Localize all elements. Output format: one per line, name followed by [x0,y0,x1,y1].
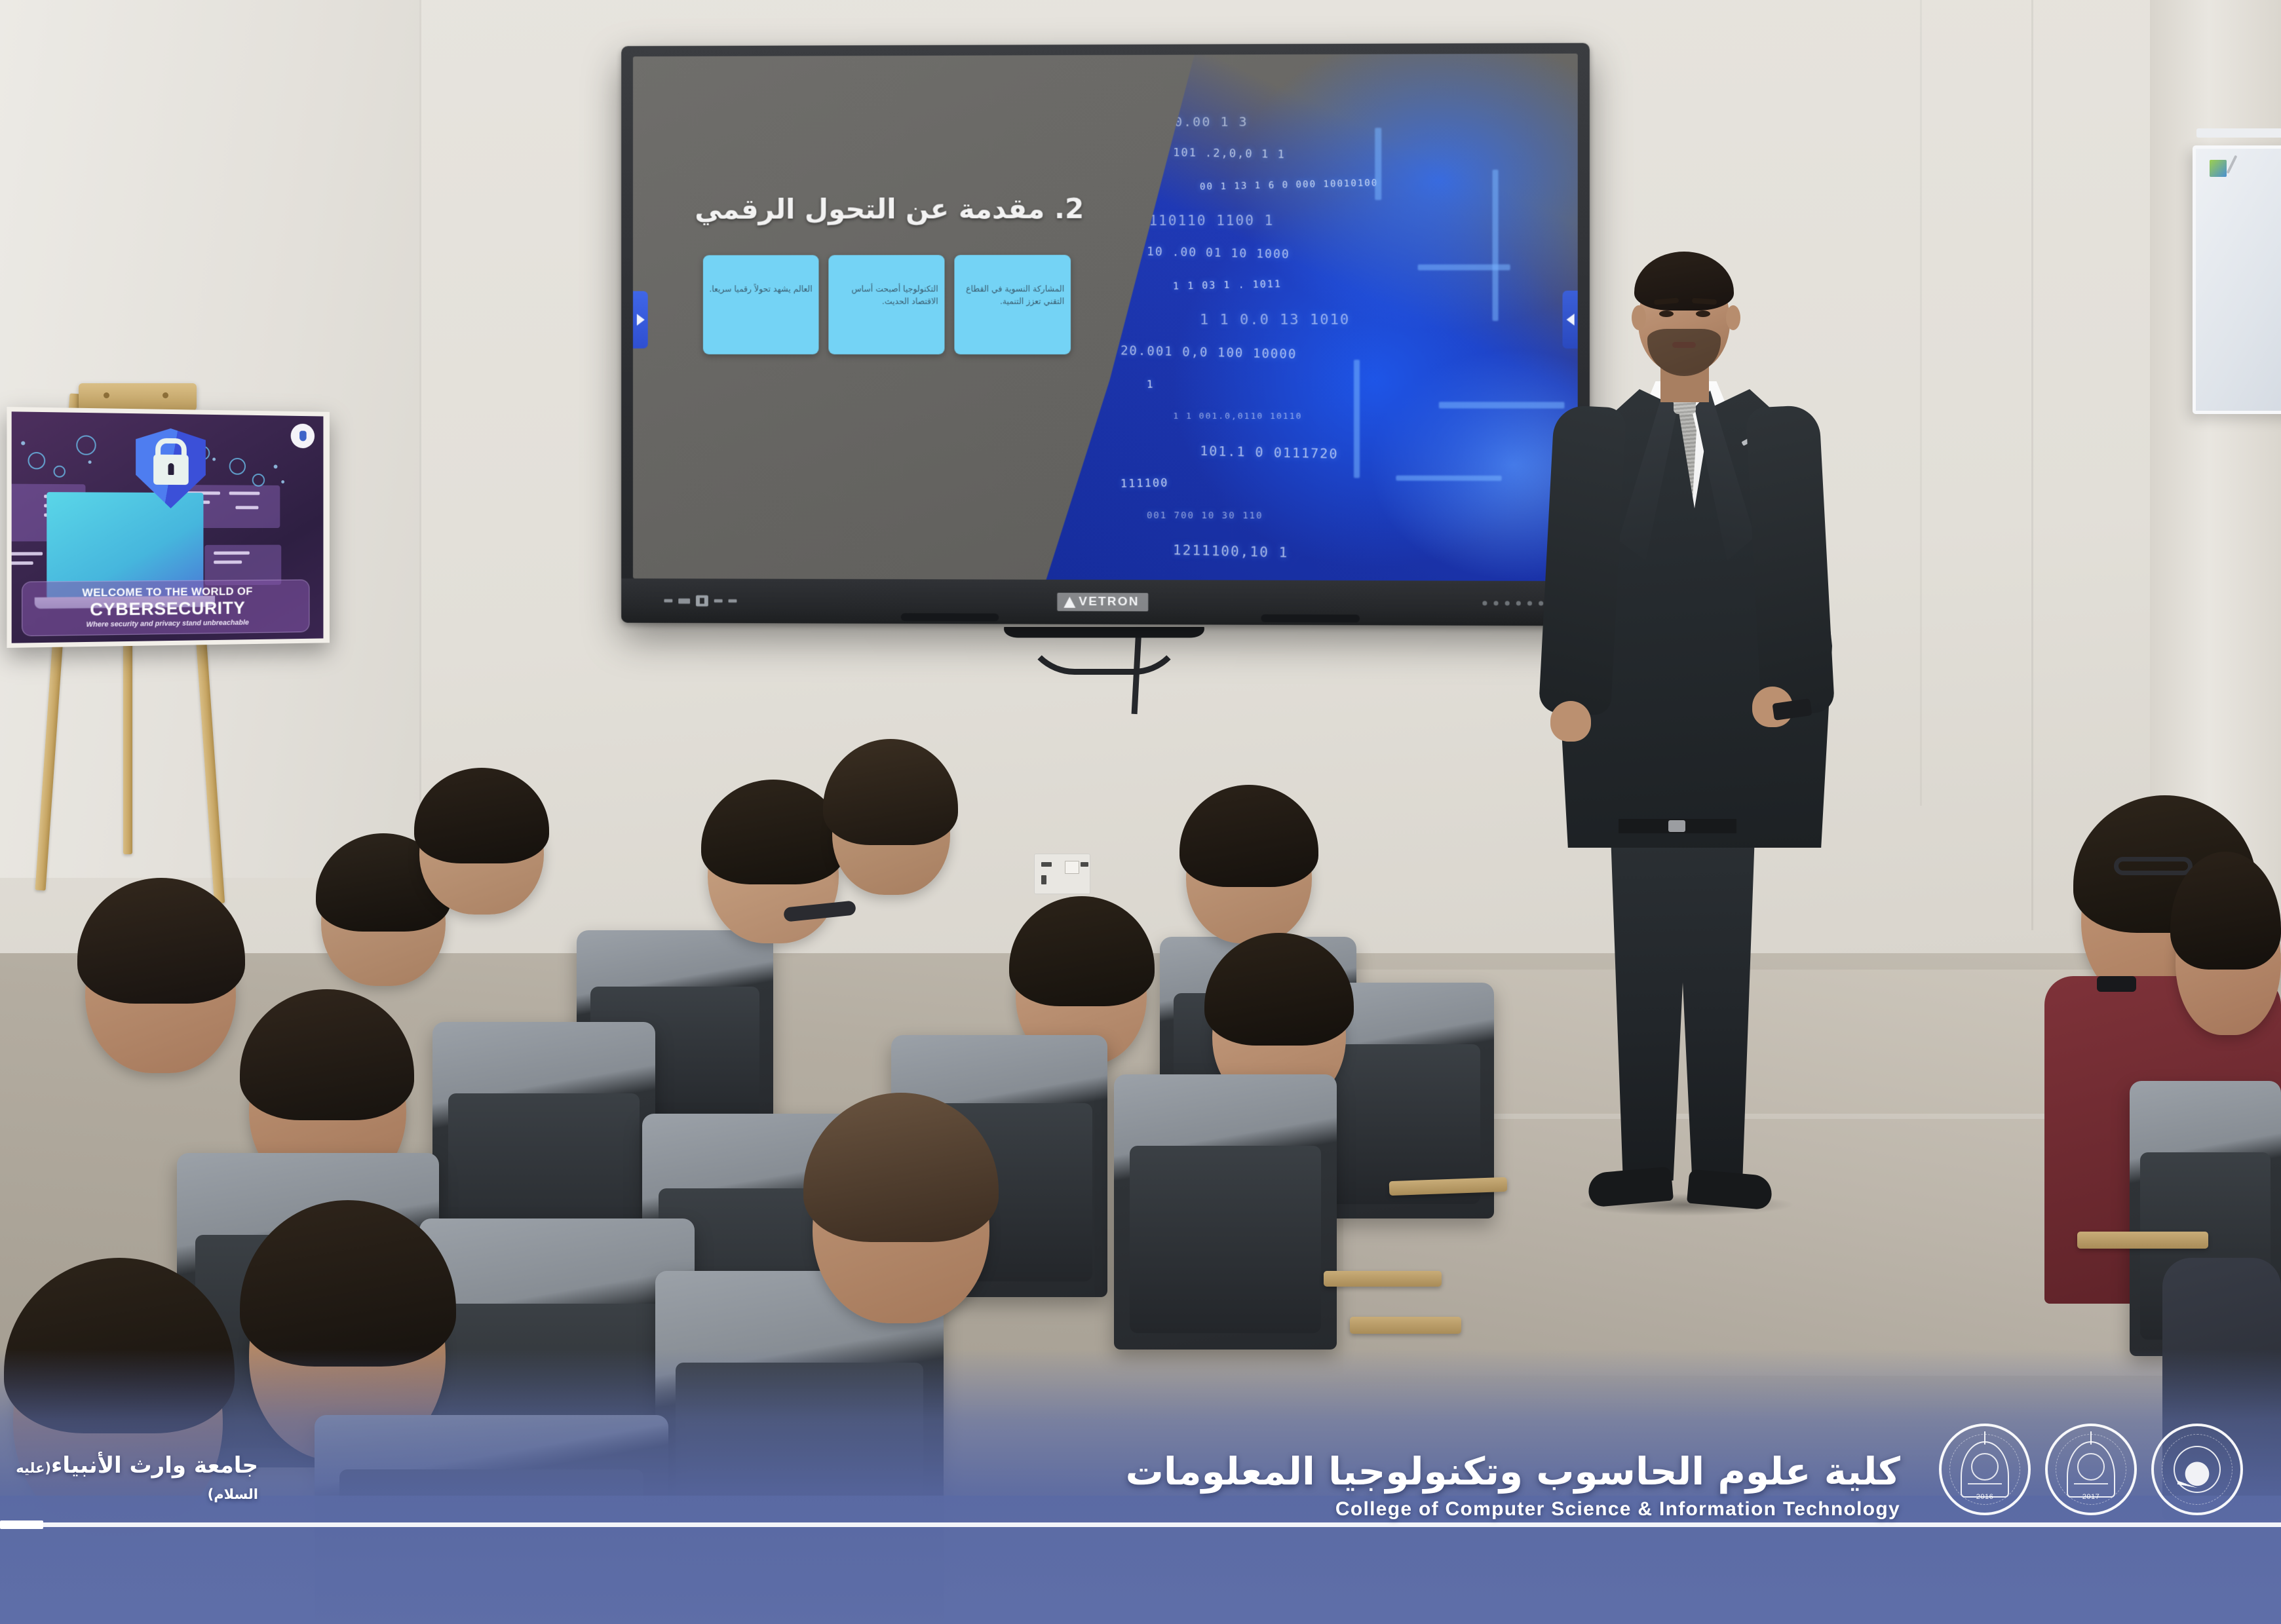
slide-digital-graphic: 1 1 3 0 100 0.00 1 3101 .2,0,0 1 100 1 1… [1046,54,1578,581]
seal-year: 2017 [2082,1493,2099,1501]
presenter-ear [1726,305,1740,330]
presenter [1532,242,1873,1264]
binary-row: 00 1 13 1 6 0 000 10010100 [1200,178,1379,193]
ministry-fan-icon [2177,1452,2217,1488]
presentation-slide: 1 1 3 0 100 0.00 1 3101 .2,0,0 1 100 1 1… [633,54,1578,581]
easel-top-bar [79,383,197,411]
binary-row: 1 1 001.0,0110 10110 [1173,411,1302,421]
lecture-hall-photo: 1 1 3 0 100 0.00 1 3101 .2,0,0 1 100 1 1… [0,0,2281,1624]
college-seal-logo: 2016 [1939,1424,2031,1515]
college-name-english: College of Computer Science & Informatio… [1126,1498,1900,1520]
slide-card: العالم يشهد تحولاً رقميا سريعا. [703,255,819,354]
binary-row: 101.1 0 0111720 [1200,443,1339,462]
college-name-arabic: كلية علوم الحاسوب وتكنولوجيا المعلومات [1126,1451,1900,1493]
display-brand-logo: VETRON [1057,593,1148,611]
university-seal-logo: 2017 [2045,1424,2137,1515]
poster-artwork: WELCOME TO THE WORLD OF CYBERSECURITY Wh… [12,411,324,643]
poster-line-2: CYBERSECURITY [29,597,303,620]
poster-caption: WELCOME TO THE WORLD OF CYBERSECURITY Wh… [22,579,309,636]
college-name-block: كلية علوم الحاسوب وتكنولوجيا المعلومات C… [1126,1451,1900,1520]
presenter-trousers [1604,827,1761,1180]
presenter-hair [1634,252,1734,311]
vetron-mark-icon [1064,596,1075,607]
presenter-hand [1550,701,1591,742]
binary-row: 1 1 0.0 13 1010 [1200,312,1351,328]
binary-row: 001 700 10 30 110 [1147,510,1263,521]
ministry-seal-logo [2151,1424,2243,1515]
slide-card-text: العالم يشهد تحولاً رقميا سريعا. [708,282,813,295]
presenter-shoe [1687,1169,1773,1211]
display-speaker-slot [1261,614,1360,623]
footer-divider-rule [0,1522,2281,1527]
presenter-shoe [1587,1167,1674,1208]
wall-seam [1920,0,1922,806]
presenter-belt-buckle [1668,820,1685,832]
binary-row: 10 110110 1100 1 [1121,213,1275,229]
display-brand-text: VETRON [1079,595,1139,609]
usb-port-icon [696,595,708,607]
padlock-icon [153,455,189,485]
display-ports [664,595,737,607]
cybersecurity-poster: WELCOME TO THE WORLD OF CYBERSECURITY Wh… [7,407,330,648]
binary-row: 1211100,10 1 [1173,542,1289,560]
university-name-arabic: جامعة وارث الأنبياء(عليه السلام) [0,1452,262,1505]
slide-card: التكنولوجيا أصبحت أساس الاقتصاد الحديث. [829,255,945,354]
presenter-beard [1647,329,1721,376]
eyeglasses-icon [2114,857,2193,875]
binary-row: 1 1 03 1 . 1011 [1173,278,1282,292]
presenter-arm [1746,404,1835,715]
display-stand [1001,627,1207,638]
play-arrow-icon [636,314,644,326]
binary-row: 111100 [1120,477,1168,491]
binary-row: 101 .2,0,0 1 1 [1173,146,1286,161]
seat-armrest [2077,1232,2208,1249]
binary-row: 1 [1147,378,1155,390]
presenter-mouth [1672,342,1696,348]
seal-year: 2016 [1976,1493,1993,1501]
interactive-display[interactable]: 1 1 3 0 100 0.00 1 3101 .2,0,0 1 100 1 1… [621,43,1590,626]
display-bezel: VETRON [621,578,1590,626]
seat-armrest [1350,1317,1461,1334]
binary-row: 10 .00 01 10 1000 [1147,244,1290,261]
wall-power-socket [1034,854,1090,894]
slide-card-text: التكنولوجيا أصبحت أساس الاقتصاد الحديث. [834,282,938,308]
seat-armrest [1324,1271,1442,1287]
display-speaker-slot [901,613,999,621]
slide-card-text: المشاركة النسوية في القطاع التقني تعزز ا… [960,282,1065,308]
presenter-eye [1659,311,1674,317]
wristwatch-icon [2097,976,2136,992]
university-name-text: جامعة وارث الأنبياء [51,1452,258,1479]
whiteboard-sticker [2210,160,2227,177]
slide-card-group: العالم يشهد تحولاً رقميا سريعا. التكنولو… [703,255,1071,354]
slide-card: المشاركة النسوية في القطاع التقني تعزز ا… [955,255,1071,354]
presenter-eye [1696,311,1710,317]
binary-row: 1 1 3 0 1 [1120,81,1178,92]
slide-prev-nav-button[interactable] [633,292,648,349]
whiteboard [2193,145,2281,414]
auditorium-seat [1114,1074,1337,1350]
binary-row: 00 0.00 1 3 [1147,114,1248,130]
presenter-ear [1632,305,1646,330]
poster-line-3: Where security and privacy stand unbreac… [29,618,303,630]
whiteboard-tray [2196,128,2281,138]
footer-rule-cap [0,1520,43,1529]
binary-row: 20.001 0,0 100 10000 [1120,343,1297,362]
slide-title: 2. مقدمة عن التحول الرقمي [670,193,1084,225]
footer-logo-group: 2016 2017 [1939,1424,2243,1515]
wall-seam [2031,0,2033,930]
display-screen[interactable]: 1 1 3 0 100 0.00 1 3101 .2,0,0 1 100 1 1… [633,54,1578,581]
poster-university-badge [291,424,315,449]
